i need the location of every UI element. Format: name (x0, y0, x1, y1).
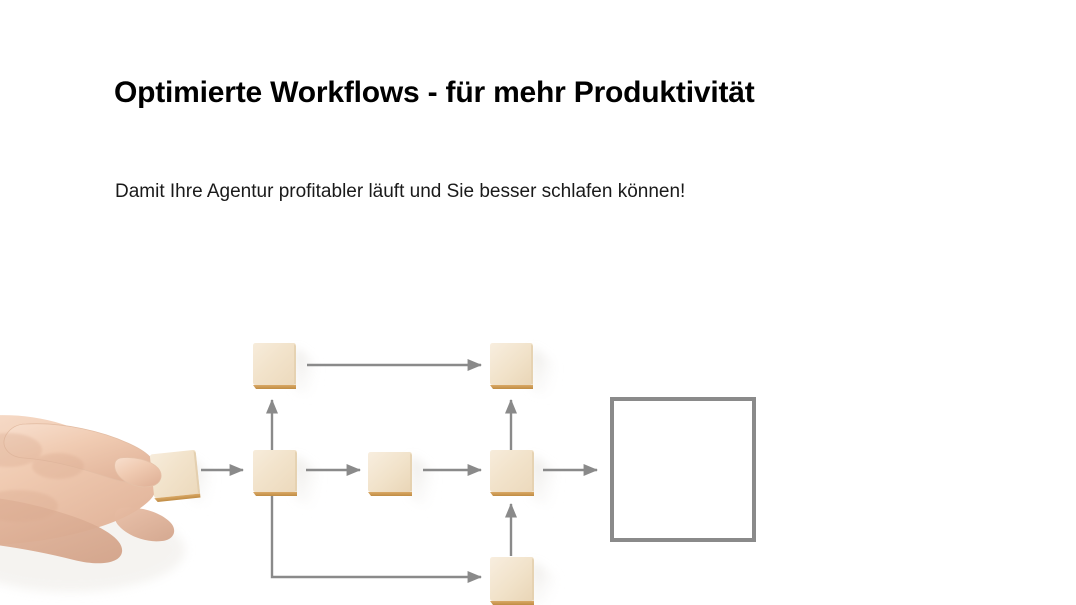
outline-square (612, 399, 754, 540)
slide-subtitle: Damit Ihre Agentur profitabler läuft und… (115, 181, 685, 203)
block-top-right (490, 343, 533, 389)
block-middle-left (253, 450, 297, 496)
block-bottom-right (490, 557, 534, 605)
page-title: Optimierte Workflows - für mehr Produkti… (114, 76, 755, 110)
block-middle-right (490, 450, 534, 496)
block-top-left (253, 343, 296, 389)
workflow-diagram-graphic (0, 300, 1076, 605)
presentation-slide: Optimierte Workflows - für mehr Produkti… (0, 0, 1076, 605)
workflow-illustration (0, 300, 1076, 605)
block-middle-center (368, 452, 412, 496)
